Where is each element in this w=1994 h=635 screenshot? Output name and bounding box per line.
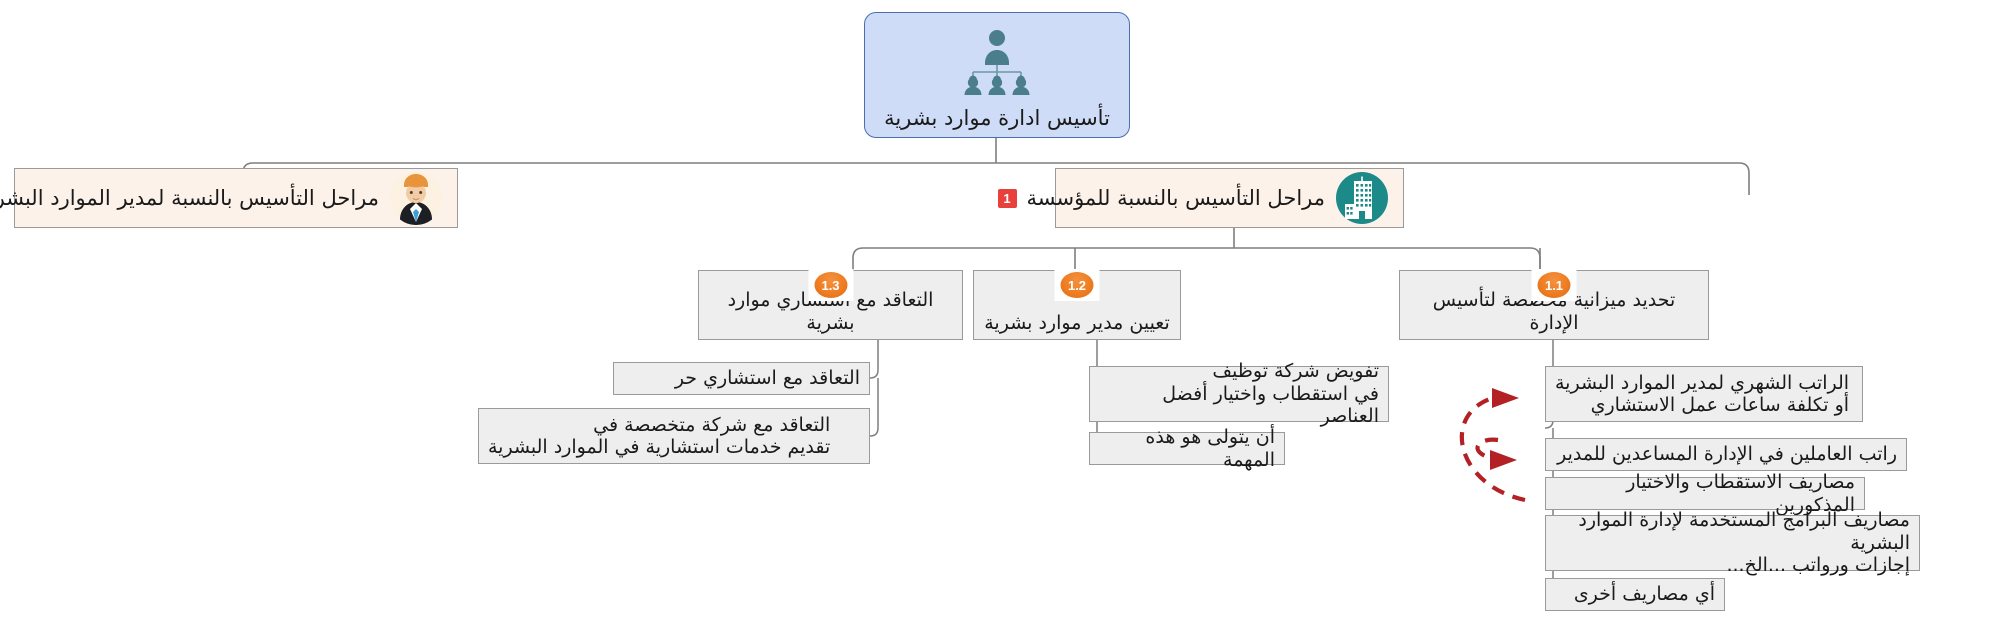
org-chart-people-icon xyxy=(949,13,1045,106)
subnode-1-1[interactable]: 1.1 تحديد ميزانية مخصصة لتأسيس الإدارة xyxy=(1399,270,1709,340)
businessman-avatar-icon xyxy=(389,171,443,225)
branch-2-label: مراحل التأسيس بالنسبة لمدير الموارد البش… xyxy=(0,185,379,211)
root-node[interactable]: تأسيس ادارة موارد بشرية xyxy=(864,12,1130,138)
leaf-1-1-d[interactable]: مصاريف البرامج المستخدمة لإدارة الموارد … xyxy=(1545,515,1920,571)
leaf-1-2-b[interactable]: أن يتولى هو هذه المهمة xyxy=(1089,432,1285,465)
subnode-1-3[interactable]: 1.3 التعاقد مع استشاري موارد بشرية xyxy=(698,270,963,340)
leaf-1-2-a[interactable]: تفويض شركة توظيف في استقطاب واختيار أفضل… xyxy=(1089,366,1389,422)
leaf-1-3-a[interactable]: التعاقد مع استشاري حر xyxy=(613,362,870,395)
subnode-1-1-badge: 1.1 xyxy=(1538,272,1571,298)
branch-1-label: مراحل التأسيس بالنسبة للمؤسسة xyxy=(1027,185,1326,211)
subnode-1-3-badge: 1.3 xyxy=(814,272,847,298)
leaf-1-1-c[interactable]: مصاريف الاستقطاب والاختيار المذكورين xyxy=(1545,477,1865,510)
branch-node-1[interactable]: مراحل التأسيس بالنسبة للمؤسسة 1 xyxy=(1055,168,1404,228)
branch-node-2[interactable]: مراحل التأسيس بالنسبة لمدير الموارد البش… xyxy=(14,168,458,228)
subnode-1-2-badge: 1.2 xyxy=(1061,272,1094,298)
office-building-icon xyxy=(1335,171,1389,225)
leaf-1-1-b[interactable]: راتب العاملين في الإدارة المساعدين للمدي… xyxy=(1545,438,1907,471)
leaf-1-1-a[interactable]: الراتب الشهري لمدير الموارد البشرية أو ت… xyxy=(1545,366,1863,422)
branch-1-badge: 1 xyxy=(998,189,1017,208)
subnode-1-2-bubble-wrap: 1.2 xyxy=(1055,269,1100,301)
subnode-1-3-bubble-wrap: 1.3 xyxy=(808,269,853,301)
subnode-1-1-bubble-wrap: 1.1 xyxy=(1532,269,1577,301)
leaf-1-1-e[interactable]: أي مصاريف أخرى xyxy=(1545,578,1725,611)
mindmap-canvas: تأسيس ادارة موارد بشرية xyxy=(0,0,1994,635)
subnode-1-2[interactable]: 1.2 تعيين مدير موارد بشرية xyxy=(973,270,1181,340)
leaf-1-3-b[interactable]: التعاقد مع شركة متخصصة في تقديم خدمات اس… xyxy=(478,408,870,464)
root-label: تأسيس ادارة موارد بشرية xyxy=(865,106,1129,131)
subnode-1-2-label: تعيين مدير موارد بشرية xyxy=(974,312,1180,335)
